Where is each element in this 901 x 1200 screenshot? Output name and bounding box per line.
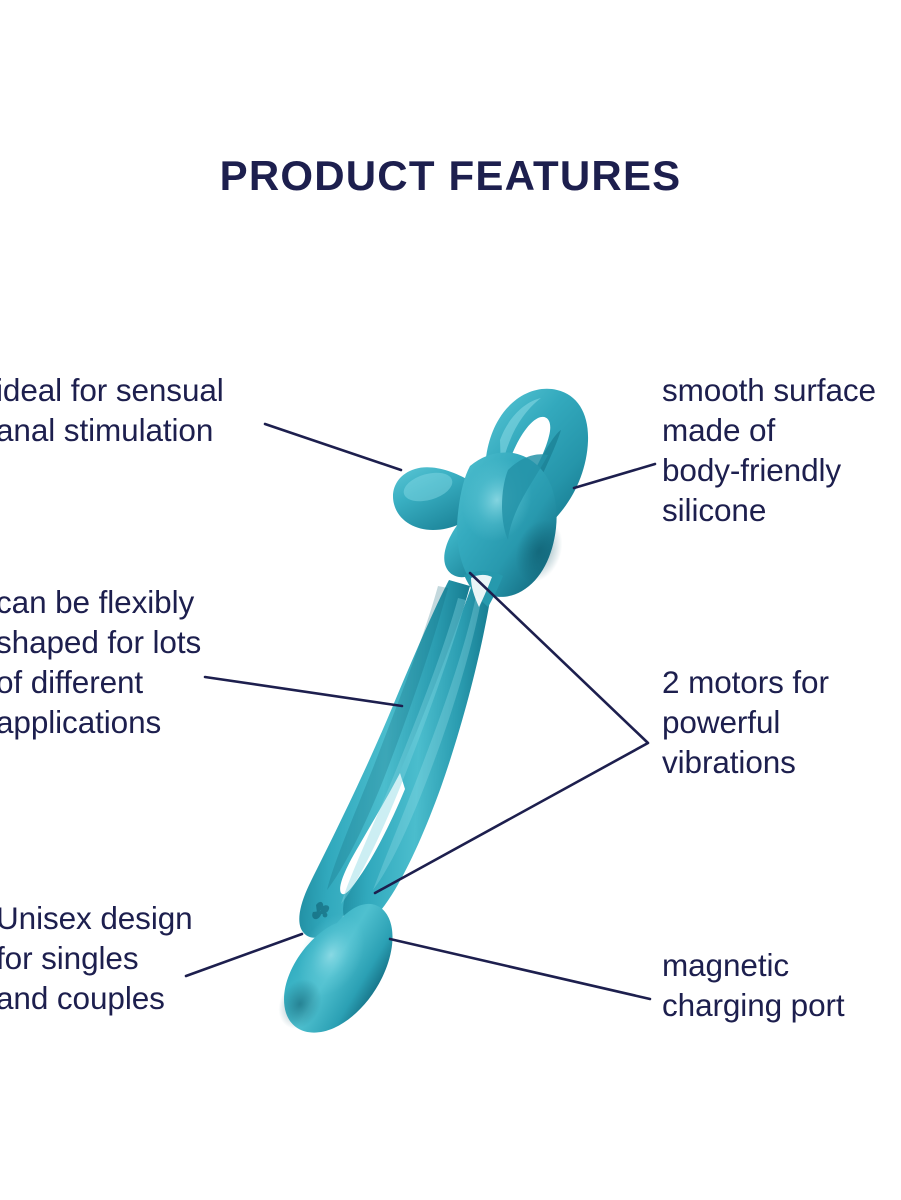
feature-label-can-be-flexibly-shaped: can be flexibly shaped for lots of diffe…: [0, 582, 266, 742]
feature-label-ideal-for-sensual-anal-stimulation: ideal for sensual anal stimulation: [0, 370, 296, 450]
feature-label-smooth-surface-silicone: smooth surface made of body-friendly sil…: [662, 370, 901, 530]
product-features-page: PRODUCT FEATURES: [0, 0, 901, 1200]
product-body: [270, 389, 588, 1037]
feature-label-magnetic-charging-port: magnetic charging port: [662, 945, 901, 1025]
feature-label-two-motors: 2 motors for powerful vibrations: [662, 662, 901, 782]
feature-label-unisex-design: Unisex design for singles and couples: [0, 898, 256, 1018]
